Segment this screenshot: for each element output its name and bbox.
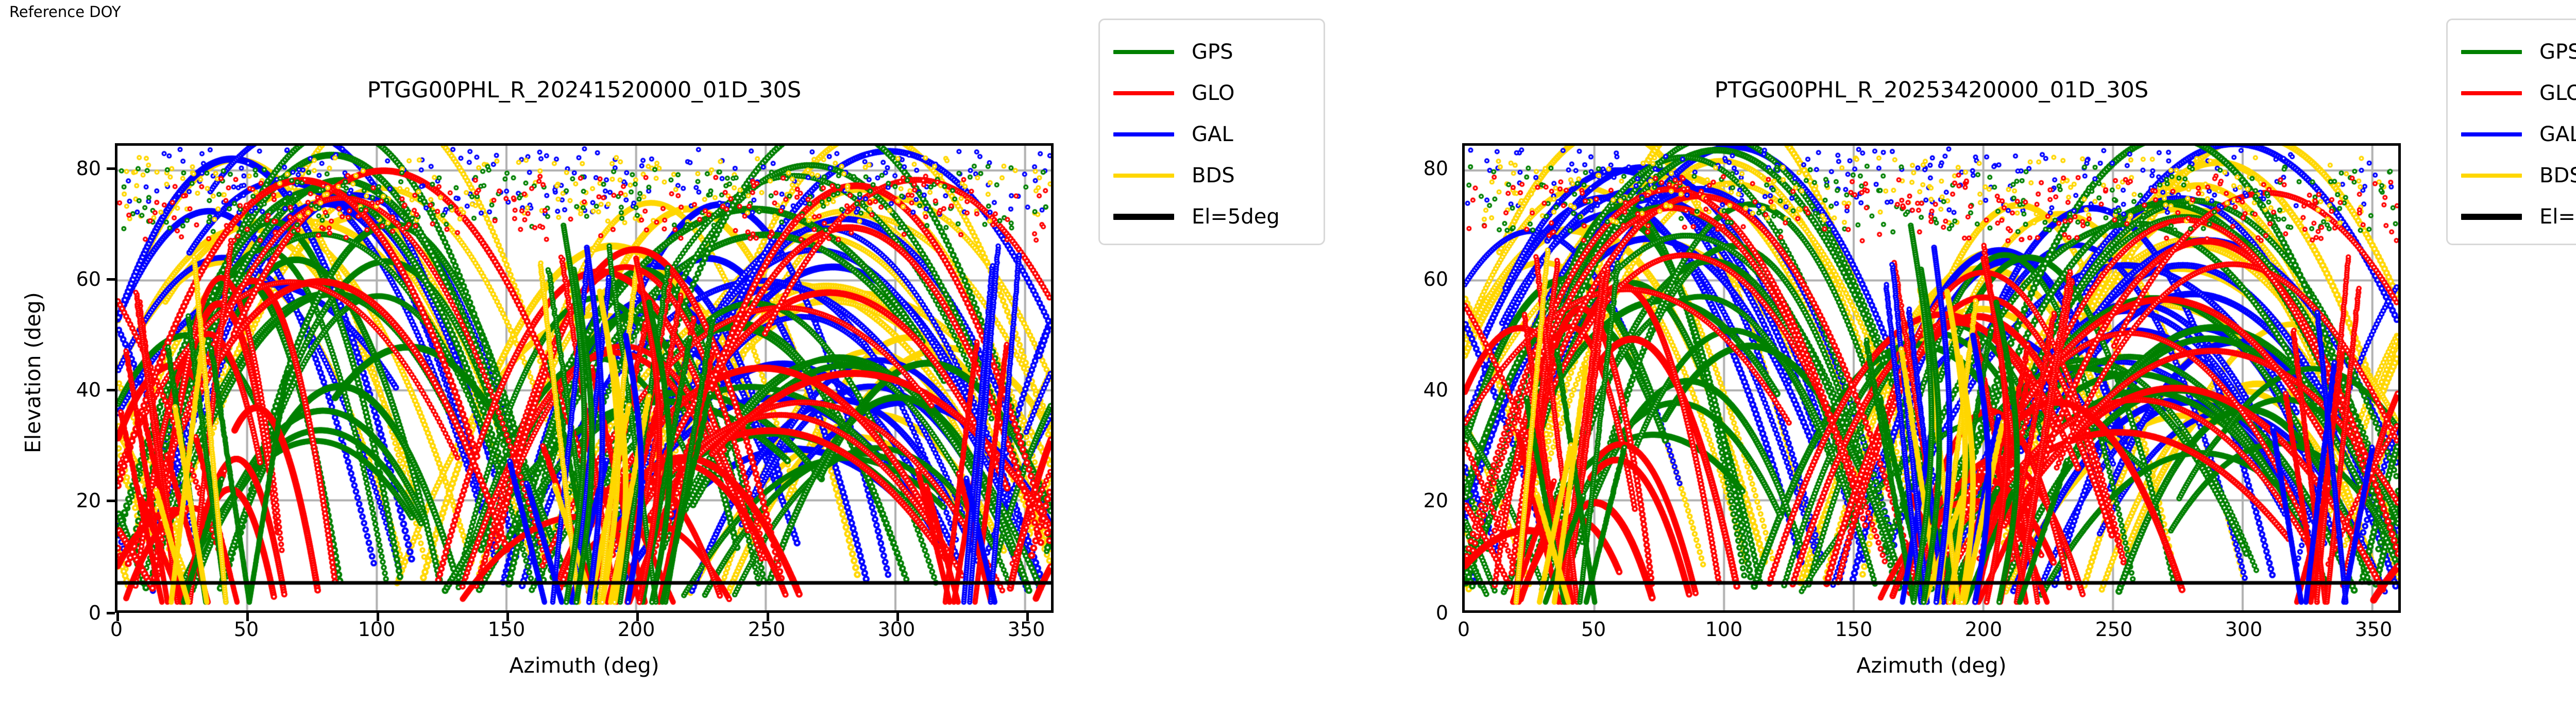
x-tickmark xyxy=(1026,613,1029,621)
x-tick-200: 200 xyxy=(1965,618,2003,641)
y-tickmark xyxy=(107,500,115,502)
legend-item-el5deg[interactable]: El=5deg xyxy=(2461,196,2576,237)
y-tickmark xyxy=(107,167,115,170)
legend-label-bds: BDS xyxy=(2539,165,2576,186)
x-tick-300: 300 xyxy=(878,618,916,641)
x-tick-250: 250 xyxy=(2095,618,2133,641)
x-tickmark xyxy=(377,613,379,621)
legend-item-glo[interactable]: GLO xyxy=(1113,73,1310,114)
x-tick-50: 50 xyxy=(234,618,259,641)
legend-label-el5deg: El=5deg xyxy=(1192,207,1280,227)
y-tick-80: 80 xyxy=(1423,157,1448,180)
plot-axes xyxy=(115,143,1054,613)
y-tickmark xyxy=(107,278,115,281)
legend-item-bds[interactable]: BDS xyxy=(1113,155,1310,196)
legend-label-glo: GLO xyxy=(2539,83,2576,104)
legend-swatch-gal xyxy=(1113,132,1174,136)
x-axis-label: Azimuth (deg) xyxy=(1462,653,2401,678)
legend-item-bds[interactable]: BDS xyxy=(2461,155,2576,196)
y-tick-0: 0 xyxy=(1436,602,1448,624)
legend-item-glo[interactable]: GLO xyxy=(2461,73,2576,114)
x-tick-labels: 0 50 100 150 200 250 300 350 xyxy=(1462,618,2401,649)
x-tickmark xyxy=(896,613,899,621)
x-tickmark xyxy=(767,613,769,621)
x-tickmark xyxy=(506,613,509,621)
x-tick-300: 300 xyxy=(2225,618,2263,641)
figure-page: Reference DOY PTGG00PHL_R_20241520000_01… xyxy=(0,0,2576,720)
x-tick-0: 0 xyxy=(1458,618,1470,641)
plot-title: PTGG00PHL_R_20241520000_01D_30S xyxy=(115,77,1054,103)
legend-item-gal[interactable]: GAL xyxy=(1113,114,1310,155)
legend-item-gal[interactable]: GAL xyxy=(2461,114,2576,155)
legend-label-el5deg: El=5deg xyxy=(2539,207,2576,227)
x-tick-0: 0 xyxy=(110,618,123,641)
x-tick-150: 150 xyxy=(488,618,526,641)
legend-label-gps: GPS xyxy=(2539,42,2576,62)
x-tick-200: 200 xyxy=(618,618,655,641)
legend-swatch-bds xyxy=(1113,174,1174,178)
legend-item-el5deg[interactable]: El=5deg xyxy=(1113,196,1310,237)
y-tick-40: 40 xyxy=(76,379,101,401)
legend-swatch-bds xyxy=(2461,174,2522,178)
y-tick-20: 20 xyxy=(1423,489,1448,512)
y-tickmark xyxy=(107,389,115,391)
y-tick-0: 0 xyxy=(89,602,101,624)
x-tick-350: 350 xyxy=(1008,618,1045,641)
legend-label-gps: GPS xyxy=(1192,42,1233,62)
legend-swatch-el5deg xyxy=(2461,214,2522,220)
legend-swatch-glo xyxy=(1113,91,1174,95)
legend-swatch-gps xyxy=(1113,50,1174,54)
x-tick-350: 350 xyxy=(2355,618,2393,641)
y-tick-60: 60 xyxy=(76,268,101,290)
x-tick-150: 150 xyxy=(1835,618,1873,641)
legend-swatch-gal xyxy=(2461,132,2522,136)
x-tick-50: 50 xyxy=(1581,618,1606,641)
y-tick-80: 80 xyxy=(76,157,101,180)
skyplot-panel-2: PTGG00PHL_R_20253420000_01D_30S 0 20 40 … xyxy=(1347,0,2576,720)
plot-title: PTGG00PHL_R_20253420000_01D_30S xyxy=(1462,77,2401,103)
legend-item-gps[interactable]: GPS xyxy=(1113,31,1310,73)
x-tick-100: 100 xyxy=(358,618,396,641)
x-tick-100: 100 xyxy=(1705,618,1743,641)
y-axis-label: Elevation (deg) xyxy=(21,292,45,453)
legend-label-gal: GAL xyxy=(1192,124,1233,145)
x-axis-label: Azimuth (deg) xyxy=(115,653,1054,678)
x-tickmark xyxy=(636,613,639,621)
x-tickmark xyxy=(246,613,249,621)
plot-axes xyxy=(1462,143,2401,613)
x-tick-labels: 0 50 100 150 200 250 300 350 xyxy=(115,618,1054,649)
legend-label-glo: GLO xyxy=(1192,83,1234,104)
legend-panel-2: GPS GLO GAL BDS El=5deg xyxy=(2446,19,2576,245)
x-tickmark xyxy=(116,613,119,621)
y-tick-60: 60 xyxy=(1423,268,1448,290)
x-tick-250: 250 xyxy=(748,618,786,641)
skyplot-canvas xyxy=(1465,146,2398,610)
legend-swatch-glo xyxy=(2461,91,2522,95)
y-tick-labels: 0 20 40 60 80 xyxy=(1371,0,1448,720)
y-tickmark xyxy=(107,612,115,614)
legend-label-bds: BDS xyxy=(1192,165,1235,186)
y-tick-40: 40 xyxy=(1423,379,1448,401)
legend-swatch-gps xyxy=(2461,50,2522,54)
legend-item-gps[interactable]: GPS xyxy=(2461,31,2576,73)
legend-panel-1: GPS GLO GAL BDS El=5deg xyxy=(1098,19,1325,245)
y-tick-20: 20 xyxy=(76,489,101,512)
legend-swatch-el5deg xyxy=(1113,214,1174,220)
skyplot-canvas xyxy=(117,146,1051,610)
legend-label-gal: GAL xyxy=(2539,124,2576,145)
